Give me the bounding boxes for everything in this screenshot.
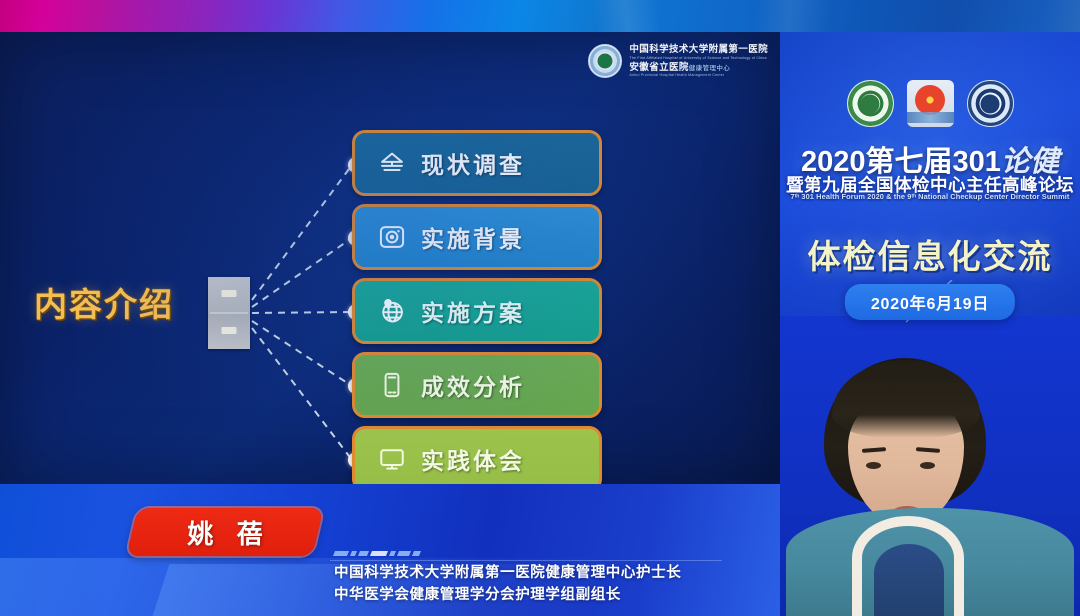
lower-divider xyxy=(330,560,722,561)
speaker-name: 姚 蓓 xyxy=(132,508,318,556)
umbrella-icon xyxy=(377,148,407,178)
speaker-collar xyxy=(852,516,964,616)
globe-pin-icon xyxy=(377,296,407,326)
org-line1-en: The First Affiliated Hospital of Univers… xyxy=(629,56,768,60)
event-topic: 体检信息化交流 xyxy=(780,230,1080,278)
speaker-eye-left xyxy=(866,462,881,469)
agenda-item-plan[interactable]: 实施方案 xyxy=(352,278,602,344)
speaker-webcam xyxy=(780,316,1080,616)
hub-block-icon xyxy=(208,277,250,349)
navy-seal-icon xyxy=(967,80,1014,127)
mobile-icon xyxy=(377,370,407,400)
green-seal-icon xyxy=(847,80,894,127)
org-line1: 中国科学技术大学附属第一医院 xyxy=(629,44,768,56)
agenda-label: 实施方案 xyxy=(421,294,525,328)
slide-org-logo-text: 中国科学技术大学附属第一医院 The First Affiliated Hosp… xyxy=(629,44,768,78)
broadcast-screen: 中国科学技术大学附属第一医院 The First Affiliated Hosp… xyxy=(0,0,1080,616)
agenda-item-current-survey[interactable]: 现状调查 xyxy=(352,130,602,196)
org-line2-small: 健康管理中心 xyxy=(689,65,730,72)
presentation-slide: 中国科学技术大学附属第一医院 The First Affiliated Hosp… xyxy=(0,32,780,484)
affiliation-line: 中华医学会健康管理学分会护理学组副组长 xyxy=(334,584,681,606)
agenda-item-background[interactable]: 实施背景 xyxy=(352,204,602,270)
page-title: 内容介绍 xyxy=(34,278,174,326)
org-line2-en: Anhui Provincial Hospital Health Managem… xyxy=(629,73,768,77)
speaker-name-badge: 姚 蓓 xyxy=(126,508,323,556)
agenda-list: 现状调查 实施背景 xyxy=(352,130,602,484)
speaker-affiliations: 中国科学技术大学附属第一医院健康管理中心护士长 中华医学会健康管理学分会护理学组… xyxy=(334,562,681,607)
slide-org-logo: 中国科学技术大学附属第一医院 The First Affiliated Hosp… xyxy=(588,44,768,78)
agenda-label: 成效分析 xyxy=(421,368,525,402)
decorative-dashes xyxy=(334,551,420,556)
event-branding-panel: 2020第七届301论健 暨第九届全国体检中心主任高峰论坛 7ᵗʰ 301 He… xyxy=(780,32,1080,616)
org-line2: 安徽省立医院健康管理中心 xyxy=(629,62,768,74)
top-gradient-band xyxy=(0,0,1080,32)
agenda-label: 现状调查 xyxy=(421,146,525,180)
camera-icon xyxy=(377,222,407,252)
speaker-eye-right xyxy=(920,462,935,469)
hub-divider xyxy=(210,312,248,314)
hub-slot-top xyxy=(222,290,237,297)
event-date-badge: 2020年6月19日 xyxy=(845,284,1015,320)
agenda-label: 实践体会 xyxy=(421,442,525,476)
agenda-item-practice[interactable]: 实践体会 xyxy=(352,426,602,484)
event-emblems xyxy=(780,80,1080,127)
main-area: 中国科学技术大学附属第一医院 The First Affiliated Hosp… xyxy=(0,32,1080,616)
monitor-icon xyxy=(377,444,407,474)
agenda-label: 实施背景 xyxy=(421,220,525,254)
band-sheen xyxy=(0,0,1080,32)
agenda-item-results[interactable]: 成效分析 xyxy=(352,352,602,418)
affiliation-line: 中国科学技术大学附属第一医院健康管理中心护士长 xyxy=(334,562,681,584)
hospital-seal-icon xyxy=(588,44,622,78)
org-line2-cn: 安徽省立医院 xyxy=(629,62,688,73)
301-red-emblem-icon xyxy=(907,80,954,127)
event-english-subtitle: 7ᵗʰ 301 Health Forum 2020 & the 9ᵗʰ Nati… xyxy=(780,192,1080,201)
hub-slot-bottom xyxy=(222,327,237,334)
